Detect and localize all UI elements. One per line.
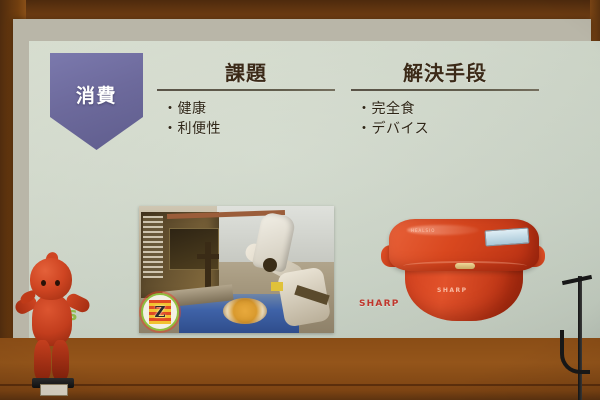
bullet-item: ・健康 [163, 99, 335, 119]
doll-eye-right [55, 280, 60, 286]
stage-floor [0, 338, 600, 400]
bullet-item: ・利便性 [163, 119, 335, 139]
sharp-brand-logo: SHARP [359, 299, 400, 309]
column-issues: 課題 ・健康 ・利便性 [157, 63, 335, 140]
photo-sharp-hotcook: HEALSIO SHARP SHARP [359, 201, 569, 333]
column-solutions-bullets: ・完全食 ・デバイス [357, 99, 539, 140]
presentation-slide: 消費 課題 ・健康 ・利便性 解決手段 ・完全食 ・デバイス [29, 41, 600, 358]
doll-name-card [40, 384, 68, 396]
photo-robotic-pizza-kitchen: Z [139, 206, 334, 333]
doll-eye-left [41, 280, 46, 286]
category-badge-label: 消費 [76, 81, 117, 108]
column-solutions: 解決手段 ・完全食 ・デバイス [351, 63, 539, 140]
column-issues-heading: 課題 [157, 63, 335, 84]
bullet-item: ・完全食 [357, 99, 539, 119]
appliance-lid-brand-text: HEALSIO [411, 228, 435, 233]
zume-pizza-logo: Z [141, 293, 179, 331]
appliance-body-brand-text: SHARP [437, 287, 468, 294]
column-solutions-rule [351, 89, 539, 91]
bullet-item: ・デバイス [357, 119, 539, 139]
column-solutions-heading: 解決手段 [351, 63, 539, 84]
column-issues-rule [157, 89, 335, 91]
conference-room-photo: 消費 課題 ・健康 ・利便性 解決手段 ・完全食 ・デバイス [0, 0, 600, 400]
category-badge-consumption: 消費 [50, 53, 143, 150]
microphone-stand [560, 276, 596, 400]
column-issues-bullets: ・健康 ・利便性 [163, 99, 335, 140]
figure-robot-cooking: Z IT・ロボット調理 [139, 206, 334, 358]
pizza-on-tray [223, 298, 267, 324]
kewpie-doll-figure [14, 258, 90, 388]
projection-screen-frame: 消費 課題 ・健康 ・利便性 解決手段 ・完全食 ・デバイス [13, 19, 591, 342]
figure-iot-appliance: HEALSIO SHARP SHARP IoT調理家電 [359, 201, 569, 358]
zume-logo-letter: Z [155, 303, 166, 321]
appliance-display-panel [484, 227, 529, 246]
